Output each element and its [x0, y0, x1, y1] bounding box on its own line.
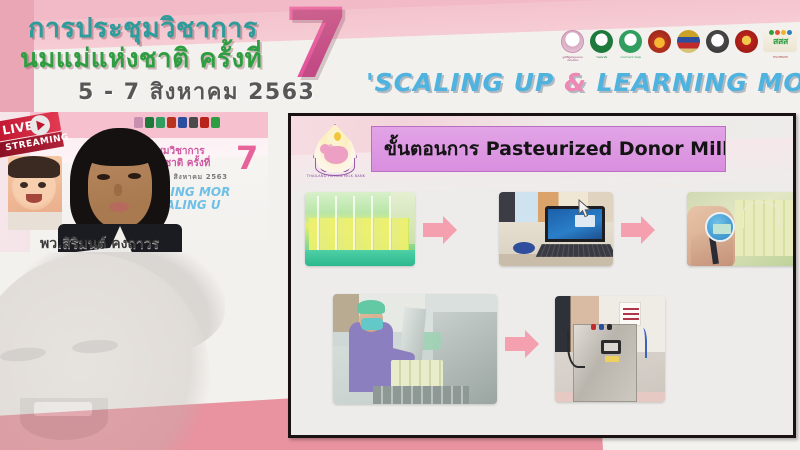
slide-title-text: ขั้นตอนการ Pasteurized Donor Milk [384, 134, 726, 164]
logo-disc [706, 30, 729, 53]
logo-caption: THAI HEALTH [763, 56, 797, 62]
watermark-teeth [34, 402, 92, 416]
photo5-control-knob-red [591, 324, 596, 330]
presentation-slide-panel: THAILAND HUMAN MILK BANK ขั้นตอนการ Past… [288, 113, 796, 438]
photo5-control-panel [601, 340, 621, 354]
logo-disc [619, 30, 642, 53]
photo3-meter-display [713, 224, 731, 234]
child-mouth [26, 194, 42, 203]
presenter-bangs [82, 136, 158, 166]
presenter-mouth [109, 202, 129, 212]
logo-caption: กระทรวงสาธารณสุข [619, 56, 642, 62]
photo-stainless-freezer [555, 296, 665, 402]
ministry-of-public-health-logo: กรมอนามัย [589, 28, 613, 62]
logo-caption-text: THAILAND HUMAN MILK BANK [302, 174, 370, 178]
photo1-floor [305, 250, 415, 266]
sponsor-logo-strip: มูลนิธิศูนย์นมแม่แห่งประเทศไทย กรมอนามัย… [560, 26, 796, 64]
royal-emblem-logo [676, 28, 700, 62]
presenter-eye-right [128, 173, 141, 179]
photo5-control-knob-blue [599, 324, 604, 330]
photo4-nurse-cap [357, 300, 385, 314]
presenter-nose [114, 184, 122, 196]
child-eye-right [38, 182, 46, 188]
photo3-wire-frame [743, 202, 779, 228]
human-milk-bank-logo: THAILAND HUMAN MILK BANK [305, 122, 367, 184]
poster-logo-row [134, 117, 220, 128]
child-watermark-image [0, 236, 286, 450]
live-stream-video-thumbnail[interactable]: การประชุมวิชาการ นมแม่แห่งชาติ ครั้งที่ … [0, 112, 268, 252]
presenter-name-caption: พว.สิริมนต์ คงถาวร [40, 233, 260, 255]
photo4-nurse-mask [361, 318, 383, 330]
photo-digital-thermometer [687, 192, 796, 266]
logo-caption: มูลนิธิศูนย์นมแม่แห่งประเทศไทย [561, 56, 584, 62]
university-seal-logo [705, 28, 729, 62]
logo-disc [648, 30, 671, 53]
logo-disc [561, 30, 584, 53]
photo-nurse-loading-pasteurizer [333, 294, 497, 404]
thai-breastfeeding-foundation-logo: มูลนิธิศูนย์นมแม่แห่งประเทศไทย [560, 28, 584, 62]
photo2-computer-mouse [513, 242, 535, 254]
child-eye-left [20, 182, 28, 188]
tagline-ampersand: & [564, 68, 587, 97]
arrow-step-4-to-5 [505, 330, 541, 358]
department-of-health-logo: กระทรวงสาธารณสุข [618, 28, 642, 62]
conference-title-line2: นมแม่แห่งชาติ ครั้งที่ [20, 38, 262, 79]
red-crest-logo [734, 28, 758, 62]
logo-disc [735, 30, 758, 53]
logo-wordmark: สสส [763, 34, 797, 48]
mouse-cursor [578, 199, 592, 219]
photo1-glass-divider [371, 196, 373, 254]
photo-milk-bottles-rack [305, 192, 415, 266]
slide-stage: การประชุมวิชาการ นมแม่แห่งชาติ ครั้งที่ … [0, 0, 800, 450]
tagline-suffix: LEARNING MORE' [587, 68, 800, 97]
child-body [8, 212, 62, 230]
photo1-glass-divider [353, 196, 355, 254]
photo1-glass-divider [389, 196, 391, 254]
arrow-shaft [621, 223, 643, 237]
slide-title-banner: ขั้นตอนการ Pasteurized Donor Milk [371, 126, 726, 172]
logo-disc [590, 30, 613, 53]
poster-child-photo [8, 156, 62, 230]
presenter-eye-left [97, 174, 110, 180]
arrow-step-1-to-2 [423, 216, 459, 244]
royal-college-logo [647, 28, 671, 62]
arrow-step-2-to-3 [621, 216, 657, 244]
logo-caption: กรมอนามัย [590, 56, 613, 62]
photo1-glass-divider [335, 196, 337, 254]
photo5-control-knob-black [607, 324, 612, 330]
photo5-water-tube [639, 328, 647, 358]
thaihealth-sss-logo: สสส THAI HEALTH [763, 28, 796, 62]
photo4-water-basin [373, 386, 469, 404]
arrow-shaft [505, 337, 527, 351]
photo1-glass-divider [317, 196, 319, 254]
photo-laptop-data-entry [499, 192, 613, 266]
arrow-shaft [423, 223, 445, 237]
arrow-head [443, 216, 457, 244]
arrow-head [641, 216, 655, 244]
poster-edition-number: 7 [236, 142, 258, 174]
logo-disc [677, 30, 700, 53]
photo5-power-cord [567, 330, 585, 368]
arrow-head [525, 330, 539, 358]
milk-droplet-icon [334, 132, 341, 141]
photo3-digital-meter [705, 212, 735, 242]
tagline-prefix: 'SCALING UP [366, 68, 564, 97]
photo1-bottle-rack [309, 218, 409, 252]
conference-edition-number: 7 [283, 0, 350, 92]
photo5-label-sticker [605, 356, 619, 362]
conference-date: 5 - 7 สิงหาคม 2563 [78, 74, 315, 109]
conference-tagline: 'SCALING UP & LEARNING MORE' [366, 68, 800, 97]
photo5-wall-sign [619, 302, 641, 326]
photo2-laptop-keyboard [536, 244, 613, 257]
